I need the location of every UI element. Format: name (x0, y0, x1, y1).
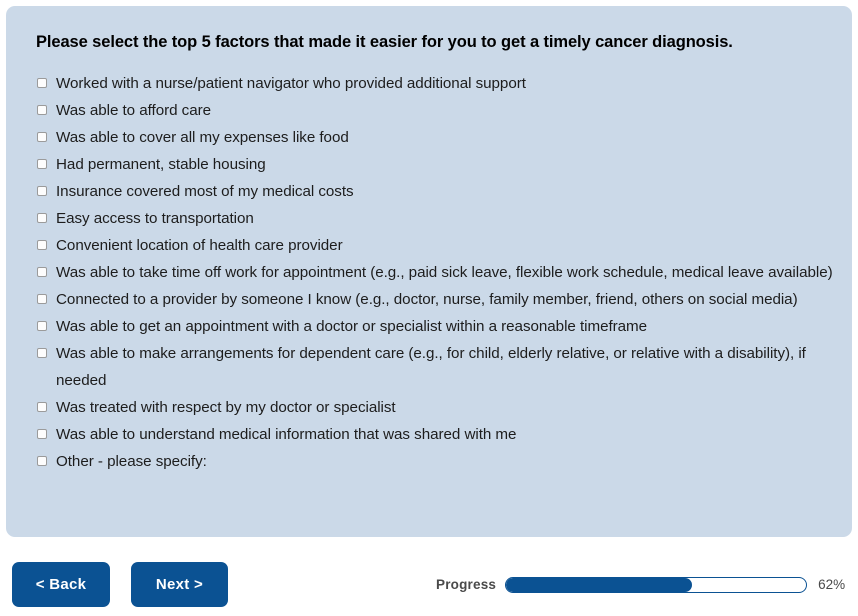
survey-panel: Please select the top 5 factors that mad… (6, 6, 852, 537)
option-label[interactable]: Was able to understand medical informati… (56, 421, 834, 448)
option-label[interactable]: Was able to take time off work for appoi… (56, 259, 834, 286)
checkbox-icon[interactable] (37, 402, 47, 412)
option-label[interactable]: Was able to get an appointment with a do… (56, 313, 834, 340)
progress-group: Progress 62% (436, 562, 846, 607)
option-label[interactable]: Had permanent, stable housing (56, 151, 834, 178)
progress-bar-fill (506, 578, 692, 592)
next-button[interactable]: Next > (131, 562, 228, 607)
option-row[interactable]: Other - please specify: (37, 448, 834, 475)
option-label[interactable]: Other - please specify: (56, 448, 834, 475)
option-label[interactable]: Connected to a provider by someone I kno… (56, 286, 834, 313)
option-label[interactable]: Insurance covered most of my medical cos… (56, 178, 834, 205)
option-row[interactable]: Convenient location of health care provi… (37, 232, 834, 259)
option-label[interactable]: Easy access to transportation (56, 205, 834, 232)
checkbox-icon[interactable] (37, 78, 47, 88)
checkbox-icon[interactable] (37, 186, 47, 196)
option-label[interactable]: Worked with a nurse/patient navigator wh… (56, 70, 834, 97)
progress-label: Progress (436, 577, 496, 592)
option-label[interactable]: Was able to cover all my expenses like f… (56, 124, 834, 151)
checkbox-icon[interactable] (37, 348, 47, 358)
option-row[interactable]: Was able to cover all my expenses like f… (37, 124, 834, 151)
option-row[interactable]: Had permanent, stable housing (37, 151, 834, 178)
option-label[interactable]: Convenient location of health care provi… (56, 232, 834, 259)
back-button[interactable]: < Back (12, 562, 110, 607)
option-row[interactable]: Insurance covered most of my medical cos… (37, 178, 834, 205)
options-list: Worked with a nurse/patient navigator wh… (37, 70, 834, 475)
checkbox-icon[interactable] (37, 456, 47, 466)
checkbox-icon[interactable] (37, 105, 47, 115)
question-title: Please select the top 5 factors that mad… (36, 33, 832, 53)
option-row[interactable]: Connected to a provider by someone I kno… (37, 286, 834, 313)
option-row[interactable]: Was able to understand medical informati… (37, 421, 834, 448)
option-row[interactable]: Was able to afford care (37, 97, 834, 124)
footer-bar: < Back Next > Progress 62% (0, 537, 858, 616)
checkbox-icon[interactable] (37, 213, 47, 223)
option-row[interactable]: Worked with a nurse/patient navigator wh… (37, 70, 834, 97)
option-label[interactable]: Was able to afford care (56, 97, 834, 124)
progress-bar-track (505, 577, 807, 593)
checkbox-icon[interactable] (37, 240, 47, 250)
option-row[interactable]: Easy access to transportation (37, 205, 834, 232)
option-row[interactable]: Was treated with respect by my doctor or… (37, 394, 834, 421)
checkbox-icon[interactable] (37, 267, 47, 277)
option-row[interactable]: Was able to take time off work for appoi… (37, 259, 834, 286)
checkbox-icon[interactable] (37, 429, 47, 439)
checkbox-icon[interactable] (37, 294, 47, 304)
checkbox-icon[interactable] (37, 159, 47, 169)
checkbox-icon[interactable] (37, 321, 47, 331)
checkbox-icon[interactable] (37, 132, 47, 142)
option-label[interactable]: Was treated with respect by my doctor or… (56, 394, 834, 421)
progress-percent-label: 62% (818, 577, 845, 592)
option-row[interactable]: Was able to get an appointment with a do… (37, 313, 834, 340)
option-row[interactable]: Was able to make arrangements for depend… (37, 340, 834, 394)
option-label[interactable]: Was able to make arrangements for depend… (56, 340, 834, 394)
